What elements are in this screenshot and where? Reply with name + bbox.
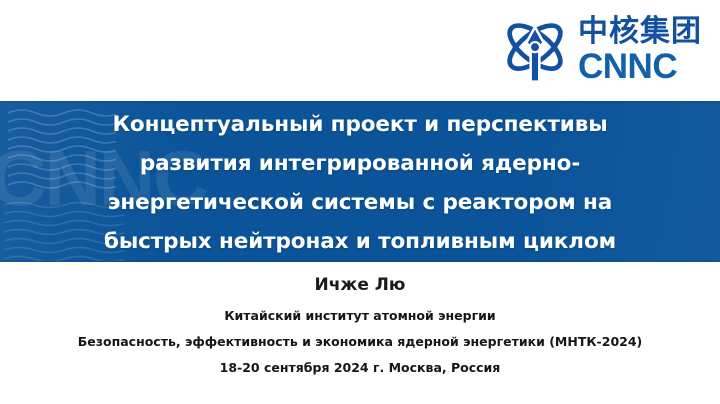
cnnc-logo-chinese: 中核集团 <box>578 16 702 48</box>
cnnc-logo-wordmark: 中核集团 CNNC <box>578 16 702 84</box>
conference-name: Безопасность, эффективность и экономика … <box>0 332 720 352</box>
title-slide: 中核集团 CNNC CNNC <box>0 0 720 404</box>
cnnc-logo-english: CNNC <box>578 50 677 84</box>
author-name: Ичже Лю <box>0 272 720 298</box>
presentation-title: Концептуальный проект и перспективы разв… <box>0 101 720 262</box>
event-date: 18-20 сентября 2024 г. Москва, Россия <box>0 358 720 378</box>
title-line-3: энергетической системы с реактором на <box>108 183 612 222</box>
cnnc-logo: 中核集团 CNNC <box>460 0 720 100</box>
title-line-4: быстрых нейтронах и топливным циклом <box>104 222 616 261</box>
slide-meta-block: Ичже Лю Китайский институт атомной энерг… <box>0 272 720 378</box>
title-band: CNNC <box>0 101 720 262</box>
title-line-1: Концептуальный проект и перспективы <box>112 105 607 144</box>
author-affiliation: Китайский институт атомной энергии <box>0 306 720 326</box>
title-line-2: развития интегрированной ядерно- <box>140 144 580 183</box>
cnnc-atom-logo-icon <box>498 14 572 86</box>
